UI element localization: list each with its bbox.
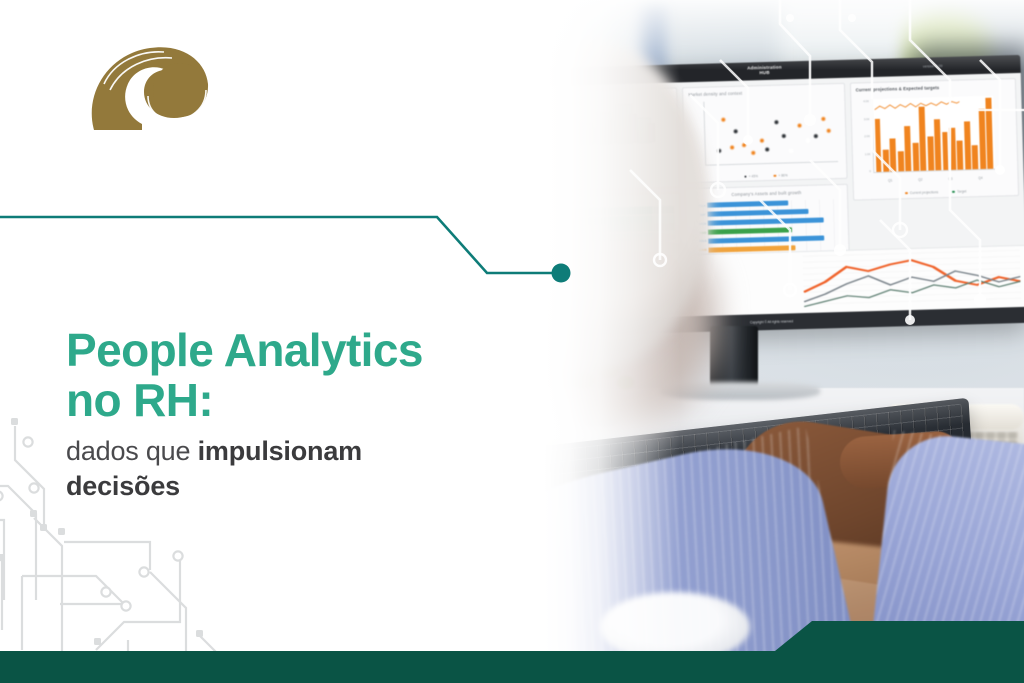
decorative-connector-line [0, 200, 580, 295]
company-logo[interactable] [78, 38, 218, 134]
page-title: People Analytics no RH: [66, 326, 586, 425]
subtitle-bold-text-1: impulsionam [198, 436, 362, 466]
swirl-logo-icon [92, 47, 208, 130]
footer-bar [0, 621, 1024, 683]
page-title-line2: no RH: [66, 376, 586, 426]
subtitle-light-text: dados que [66, 436, 198, 466]
headline-block: People Analytics no RH: dados que impuls… [66, 326, 586, 503]
promo-banner: Administration HUB version 2.09 [0, 0, 1024, 683]
page-subtitle: dados que impulsionam decisões [66, 434, 586, 503]
subtitle-bold-text-2: decisões [66, 471, 180, 501]
page-title-line1: People Analytics [66, 326, 586, 376]
connector-end-dot [552, 264, 571, 283]
